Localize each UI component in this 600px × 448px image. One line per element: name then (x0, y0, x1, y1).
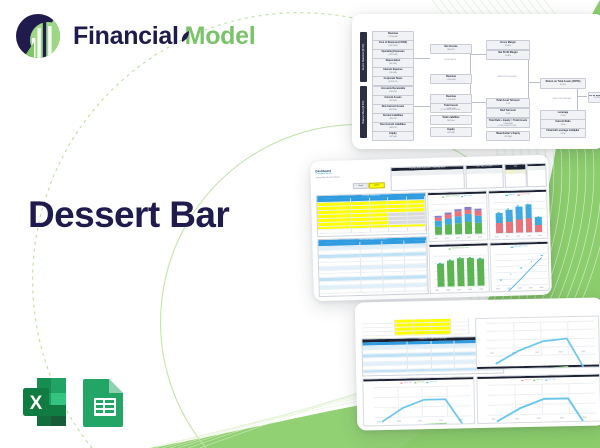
ebitda-margin-chart: EBITDA, NET PROFIT & CASH ($ 000) - 5 Ye… (475, 315, 600, 370)
income-statement-table: Income Statement (316, 192, 427, 237)
kpi-panel: KPI METRICS (526, 163, 547, 188)
operator-label-3: (309,375/1,250,000) (486, 76, 528, 78)
node-return-on-total-assets: Return on Total Assets (ROTA) 30.9% (540, 78, 586, 89)
key-ratios-panel: KEY INDICATORS (465, 164, 504, 189)
dashboard-model-name: Dessert Bar Financial Model (316, 176, 340, 179)
operator-label-4: (1,000,000/437,500) (486, 125, 528, 127)
node-return-on-equity: Return on Equity (ROE) 70.7% (588, 92, 600, 103)
cash-flow-table: Cash Flow Statement ($ 000) (317, 236, 429, 297)
node-total-liabilities: Total Liabilities 562,500 (430, 115, 472, 125)
node-corporate-taxes: Corporate Taxes (103,125) (372, 76, 414, 86)
financial-model-circle-bars-logo (14, 12, 62, 60)
update-button[interactable]: Update (369, 182, 385, 188)
node-shareholders-equity: Shareholder's Equity 437,500 (486, 131, 530, 141)
operator-label-1: (1,250,000/1) (430, 59, 470, 61)
revenue-cogs-gross-profit-chart: REVENUE, COGS & GROSS PROFIT ($ 000) - 5… (362, 376, 475, 426)
operator-label-5: (309,375/1,000,000) (540, 98, 584, 100)
microsoft-excel-icon[interactable]: X (21, 376, 68, 428)
dupont-analysis-card[interactable]: Income Statement ($ 000) Balance Sheet (… (352, 14, 600, 149)
node-equity-2: Equity 437,500 (430, 127, 472, 137)
financial-dashboard-card[interactable]: Dashboard Company Name : Dessert Bar Fin… (310, 155, 552, 302)
node-net-income: Net Income 309,375 (430, 44, 472, 54)
forecast-charts-card[interactable]: Financial Projections ($ 000) EBITDA, NE… (355, 297, 600, 430)
node-financial-leverage-multiplier: Financial Leverage multiplier 2.29x (540, 128, 586, 138)
google-sheets-icon[interactable] (81, 376, 128, 428)
bar-group (445, 212, 452, 234)
bar-group (455, 209, 463, 234)
node-equity: Equity 437,500 (372, 131, 414, 141)
plot-area (486, 321, 595, 356)
brand-logo[interactable]: FinancialModel (14, 12, 255, 60)
node-gross-margin: Gross Margin 65.0% (486, 40, 530, 50)
operating-expenses-chart: OPERATING EXPENSES ($ 000) - 5 Years to … (476, 373, 600, 424)
plot-area (434, 254, 488, 287)
balance-sheet-band-label: Balance Sheet ($ 000) (363, 101, 365, 124)
plot-area (373, 385, 470, 416)
bar-group (435, 216, 442, 235)
bar-group (475, 208, 483, 233)
operator-label-2: (1,250,000/1,000,000) (430, 109, 470, 111)
plot-area (493, 200, 546, 233)
balance-sheet-band: Balance Sheet ($ 000) (360, 86, 367, 138)
income-statement-band-label: Income Statement ($ 000) (363, 44, 365, 71)
plot-area (432, 202, 486, 235)
node-revenue-2: Revenue 1,250,000 (430, 74, 472, 84)
node-total-asset-turnover: Total Asset Turnover 1.25 (486, 98, 530, 108)
brand-name-part-2: Model (185, 22, 256, 50)
assumptions-input-table (361, 318, 469, 336)
dashboard-subtitle: Company Name : (315, 173, 332, 175)
revenue-breakdown-chart: Top 4 Revenue Streams ($ 000) - 5 Years … (427, 190, 488, 242)
income-statement-band: Income Statement ($ 000) (360, 32, 367, 82)
svg-text:X: X (30, 393, 43, 414)
bar-group (465, 206, 473, 233)
profitability-chart: Profitability ($ 000) - 5 Years to Decem… (488, 189, 548, 241)
cash-flow-chart: Cash Flow ($ 000) - 5 Years to December … (428, 242, 489, 294)
valuation-panel: VALUATION SUMMARY ($ 000) (504, 163, 527, 188)
plot-area (495, 252, 548, 285)
node-sga-turnover: SGA Turnover 4.00 (486, 108, 530, 118)
slide-canvas: FinancialModel Dessert Bar X (0, 0, 600, 448)
brand-name-part-1: Financial (73, 22, 179, 50)
node-total-assets: Total Assets 1,000,000 (430, 103, 472, 113)
assumptions-panel: FORECAST ASSUMPTIONS ($ 000) (390, 165, 465, 191)
plot-area (487, 383, 596, 415)
node-net-profit-margin: Net Profit Margin 24.8% (486, 50, 530, 60)
page-title: Dessert Bar (28, 196, 229, 235)
cumulative-cash-chart: Cumulative Projected Cash ($ 000) - 5 Ye… (489, 241, 549, 293)
reset-button[interactable]: Reset (353, 183, 369, 189)
brand-leaf-accent (180, 30, 192, 44)
brand-wordmark: FinancialModel (73, 24, 255, 49)
format-icon-group: X (21, 376, 128, 428)
